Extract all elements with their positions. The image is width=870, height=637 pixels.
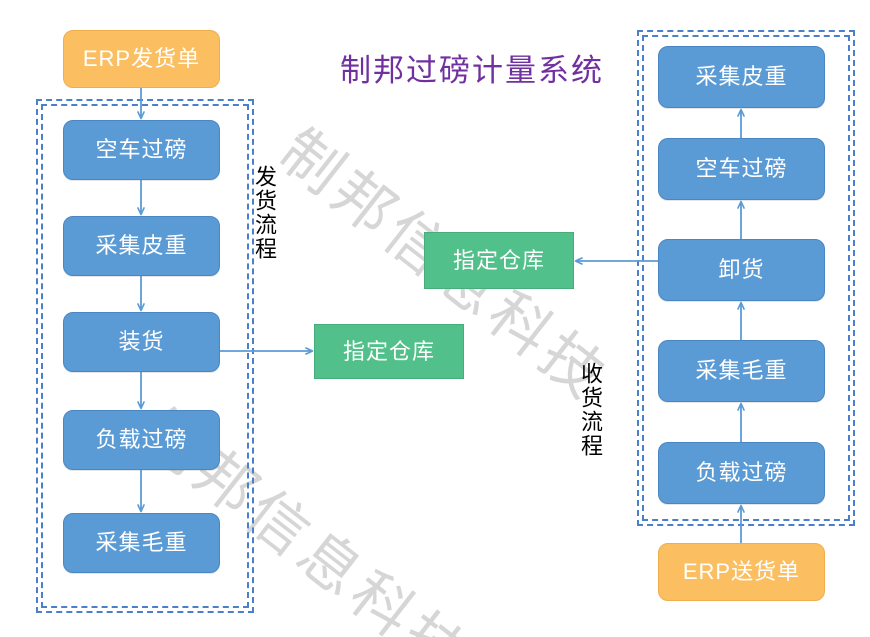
erp-shipping-order-node[interactable]: ERP发货单 — [63, 30, 220, 88]
shipping-process-label: 发货流程 — [252, 165, 274, 261]
receiving-step-unloading[interactable]: 卸货 — [658, 239, 825, 301]
receiving-step-empty-weighing[interactable]: 空车过磅 — [658, 138, 825, 200]
receiving-process-label: 收货流程 — [578, 362, 600, 458]
page-title: 制邦过磅计量系统 — [340, 45, 604, 90]
shipping-step-collect-gross[interactable]: 采集毛重 — [63, 513, 220, 573]
receiving-warehouse-node[interactable]: 指定仓库 — [424, 232, 574, 289]
node-label: 卸货 — [718, 259, 764, 281]
node-label: 指定仓库 — [453, 250, 545, 272]
node-label: ERP发货单 — [83, 48, 200, 70]
node-label: 空车过磅 — [95, 139, 187, 161]
node-label: 装货 — [118, 331, 164, 353]
node-label: ERP送货单 — [683, 561, 800, 583]
shipping-step-loading[interactable]: 装货 — [63, 312, 220, 372]
receiving-step-collect-tare[interactable]: 采集皮重 — [658, 46, 825, 108]
node-label: 采集毛重 — [95, 532, 187, 554]
node-label: 负载过磅 — [695, 462, 787, 484]
node-label: 采集皮重 — [95, 235, 187, 257]
node-label: 采集皮重 — [695, 66, 787, 88]
erp-delivery-order-node[interactable]: ERP送货单 — [658, 543, 825, 601]
receiving-step-loaded-weighing[interactable]: 负载过磅 — [658, 442, 825, 504]
shipping-step-loaded-weighing[interactable]: 负载过磅 — [63, 410, 220, 470]
receiving-step-collect-gross[interactable]: 采集毛重 — [658, 340, 825, 402]
shipping-warehouse-node[interactable]: 指定仓库 — [314, 324, 464, 379]
shipping-step-collect-tare[interactable]: 采集皮重 — [63, 216, 220, 276]
node-label: 空车过磅 — [695, 158, 787, 180]
shipping-step-empty-weighing[interactable]: 空车过磅 — [63, 120, 220, 180]
node-label: 采集毛重 — [695, 360, 787, 382]
diagram-canvas: 制邦信息科技 制邦信息科技 制邦过磅计量系统 ERP发货单 空车过磅 采集皮重 … — [0, 0, 870, 637]
node-label: 指定仓库 — [343, 341, 435, 363]
node-label: 负载过磅 — [95, 429, 187, 451]
